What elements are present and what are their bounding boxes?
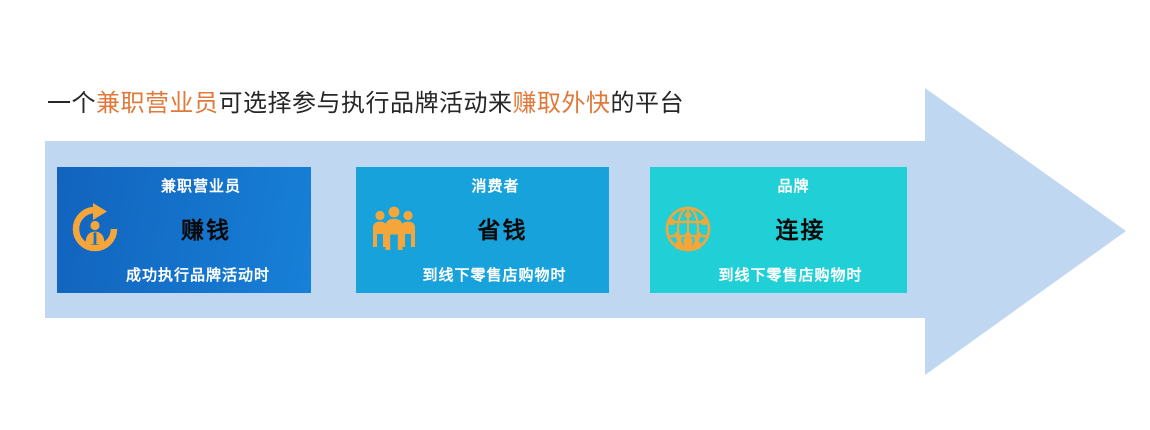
headline-segment-plain-2: 可选择参与执行品牌活动来	[219, 89, 513, 117]
card-footer-note: 成功执行品牌活动时	[57, 264, 311, 285]
headline-segment-accent-1: 兼职营业员	[96, 89, 219, 117]
card-title: 兼职营业员	[57, 175, 311, 196]
card-main-label: 赚钱	[57, 211, 311, 245]
card-footer-note: 到线下零售店购物时	[650, 264, 907, 285]
card-title: 品牌	[650, 175, 907, 196]
page-headline: 一个兼职营业员可选择参与执行品牌活动来赚取外快的平台	[47, 86, 684, 120]
headline-segment-plain-1: 一个	[47, 89, 96, 117]
headline-segment-plain-3: 的平台	[611, 89, 685, 117]
card-title: 消费者	[356, 175, 609, 196]
card-main-label: 省钱	[356, 211, 609, 245]
card-part-time-clerk[interactable]: 兼职营业员 赚钱 成功执行品牌活动时	[57, 167, 311, 293]
value-cards-row: 兼职营业员 赚钱 成功执行品牌活动时 消费者 省钱 到线下零售店购物时	[57, 167, 907, 293]
card-brand[interactable]: 品牌 连接 到线下零售店购物时	[650, 167, 907, 293]
card-footer-note: 到线下零售店购物时	[356, 264, 609, 285]
card-consumer[interactable]: 消费者 省钱 到线下零售店购物时	[356, 167, 609, 293]
headline-segment-accent-2: 赚取外快	[513, 89, 611, 117]
card-main-label: 连接	[650, 211, 907, 245]
